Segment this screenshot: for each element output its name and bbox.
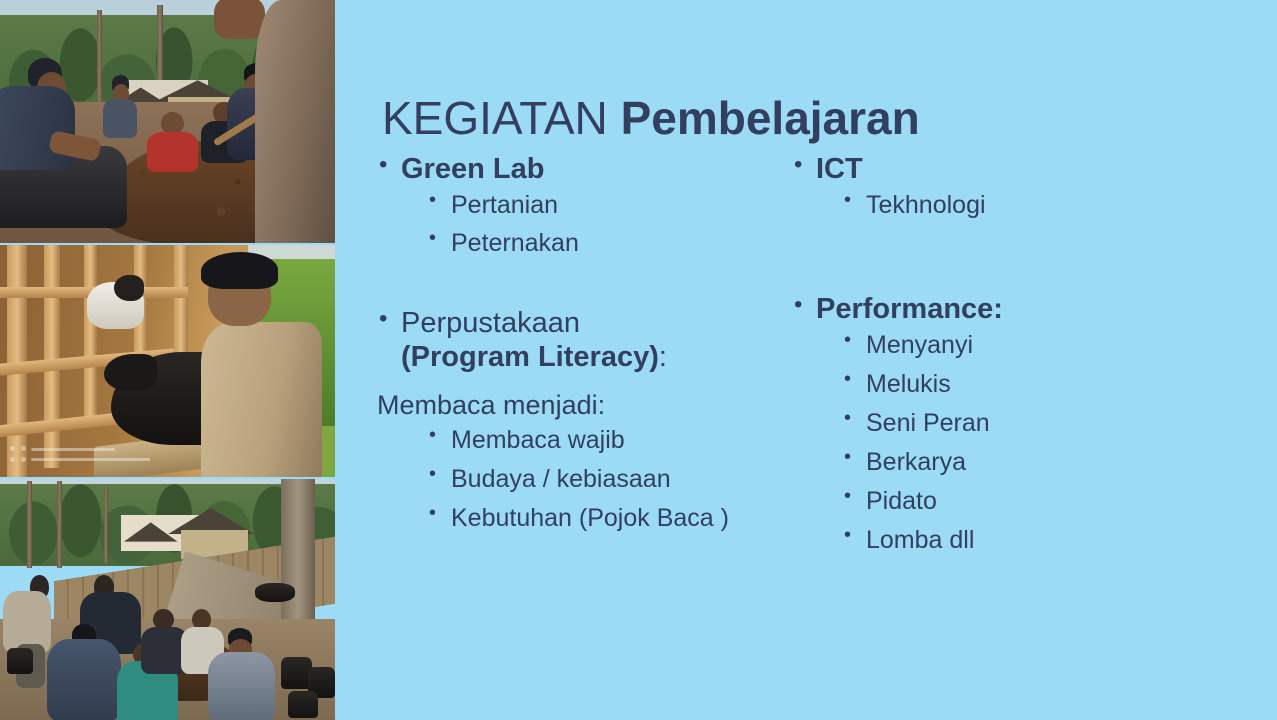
large-tree-trunk [281,479,315,628]
photo-polybag-group-scene [0,479,335,720]
bullet-seni-peran: Seni Peran [838,404,1220,443]
bullet-green-lab: Green Lab [375,152,790,186]
torso [0,86,75,170]
title-part-strong: Pembelajaran [621,92,920,144]
polybag-pile [255,583,295,602]
bullet-tekhnologi: Tekhnologi [838,186,1220,224]
torso [103,99,138,138]
barn-post [84,245,97,426]
lead-membaca-menjadi: Membaca menjadi: [375,389,790,421]
bullet-peternakan: Peternakan [423,224,790,262]
person-grey-shirt-cap [208,628,275,720]
block-perpustakaan: Perpustakaan(Program Literacy): Membaca … [375,306,790,538]
bullet-menyanyi: Menyanyi [838,326,1220,365]
photo-goat-barn-scene [0,245,335,477]
goat-black-head [104,354,158,391]
torso [147,132,197,173]
tree-trunk [57,481,62,568]
spacer [375,375,790,389]
person-standing [101,75,141,138]
spacer [790,224,1220,258]
torso [47,639,121,720]
bullet-pidato: Pidato [838,482,1220,521]
photo-goat-barn [0,245,335,477]
perpustakaan-label: Perpustakaan [401,307,580,339]
block-ict: ICT Tekhnologi [790,152,1220,224]
photo-polybag-group [0,479,335,720]
bullet-berkarya: Berkarya [838,443,1220,482]
bullet-lomba-dll: Lomba dll [838,521,1220,560]
slide-content: KEGIATAN Pembelajaran Green Lab Pertania… [335,0,1277,720]
presentation-slide: KEGIATAN Pembelajaran Green Lab Pertania… [0,0,1277,720]
bullet-kebutuhan-pojok-baca: Kebutuhan (Pojok Baca ) [423,499,790,538]
bullet-membaca-wajib: Membaca wajib [423,421,790,460]
person-hair [201,252,278,289]
spacer [375,262,790,306]
bullet-performance: Performance: [790,292,1220,326]
person-red-shirt [147,112,197,170]
polybag [281,657,311,688]
person-blue-shirt [47,624,121,720]
content-column-right: ICT Tekhnologi Performance: Menyanyi Mel… [790,152,1220,560]
arm-overhead [214,0,264,39]
person-foreground [255,0,335,243]
photo-column [0,0,335,720]
photo-watermark [10,445,171,468]
spacer [790,258,1220,292]
title-part-light: KEGIATAN [382,92,621,144]
torso [208,652,275,720]
bullet-ict: ICT [790,152,1220,186]
polybag [288,691,318,718]
perpustakaan-colon: : [659,341,667,373]
block-green-lab: Green Lab Pertanian Peternakan [375,152,790,262]
content-column-left: Green Lab Pertanian Peternakan Perpustak… [375,152,790,538]
bullet-budaya-kebiasaan: Budaya / kebiasaan [423,460,790,499]
tree-trunk [27,481,32,568]
perpustakaan-program-label: (Program Literacy) [401,341,659,373]
person-torso [201,322,322,477]
person-bending [0,58,101,194]
block-performance: Performance: Menyanyi Melukis Seni Peran… [790,292,1220,560]
barn-post [44,245,61,468]
polybag [7,648,34,675]
photo-compost-top-scene [0,0,335,243]
barn-post [174,245,187,352]
photo-compost-top [0,0,335,243]
bullet-perpustakaan: Perpustakaan(Program Literacy): [375,306,790,374]
goat-white-head [114,275,144,301]
page-title: KEGIATAN Pembelajaran [382,93,920,144]
bullet-pertanian: Pertanian [423,186,790,224]
tree-trunk [104,486,108,563]
bullet-melukis: Melukis [838,365,1220,404]
